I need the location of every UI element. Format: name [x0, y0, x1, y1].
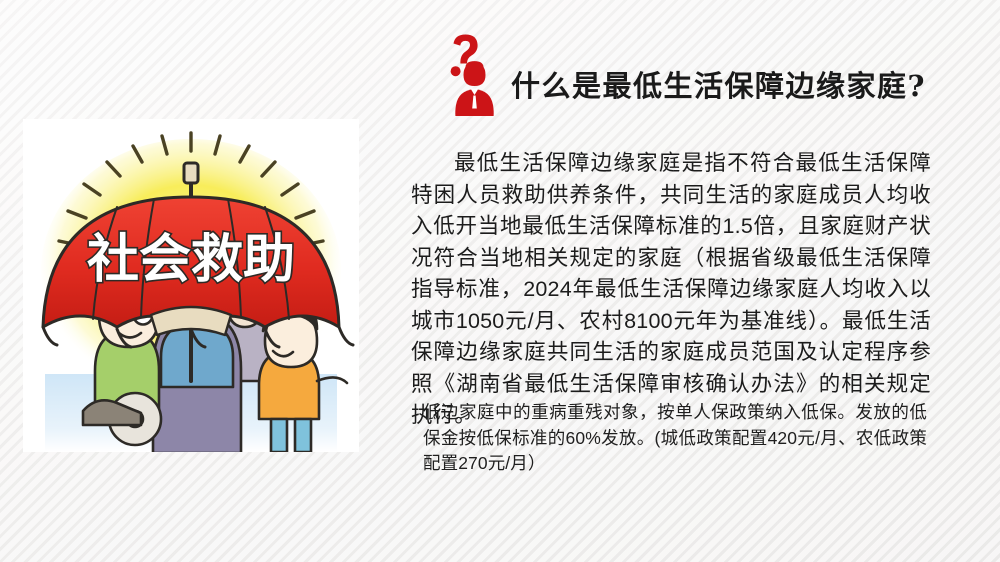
main-paragraph: 最低生活保障边缘家庭是指不符合最低生活保障特困人员救助供养条件，共同生活的家庭成… — [411, 148, 931, 432]
main-content-block: 最低生活保障边缘家庭是指不符合最低生活保障特困人员救助供养条件，共同生活的家庭成… — [411, 148, 931, 432]
umbrella-label: 社会救助 — [87, 230, 295, 290]
note-paragraph: 低边家庭中的重病重残对象，按单人保政策纳入低保。发放的低保金按低保标准的60%发… — [423, 400, 927, 477]
header-icon-cluster — [443, 33, 503, 117]
person-silhouette-icon — [455, 61, 493, 116]
slide-header: 什么是最低生活保障边缘家庭? — [443, 33, 943, 119]
social-assistance-illustration: 社会救助 — [23, 119, 359, 452]
page-title: 什么是最低生活保障边缘家庭? — [511, 72, 926, 101]
note-content-block: 低边家庭中的重病重残对象，按单人保政策纳入低保。发放的低保金按低保标准的60%发… — [423, 400, 927, 477]
illustration-artwork: 社会救助 — [23, 119, 359, 452]
slide-canvas: 社会救助 什么是最低生活保障边缘家庭? — [0, 0, 1000, 562]
